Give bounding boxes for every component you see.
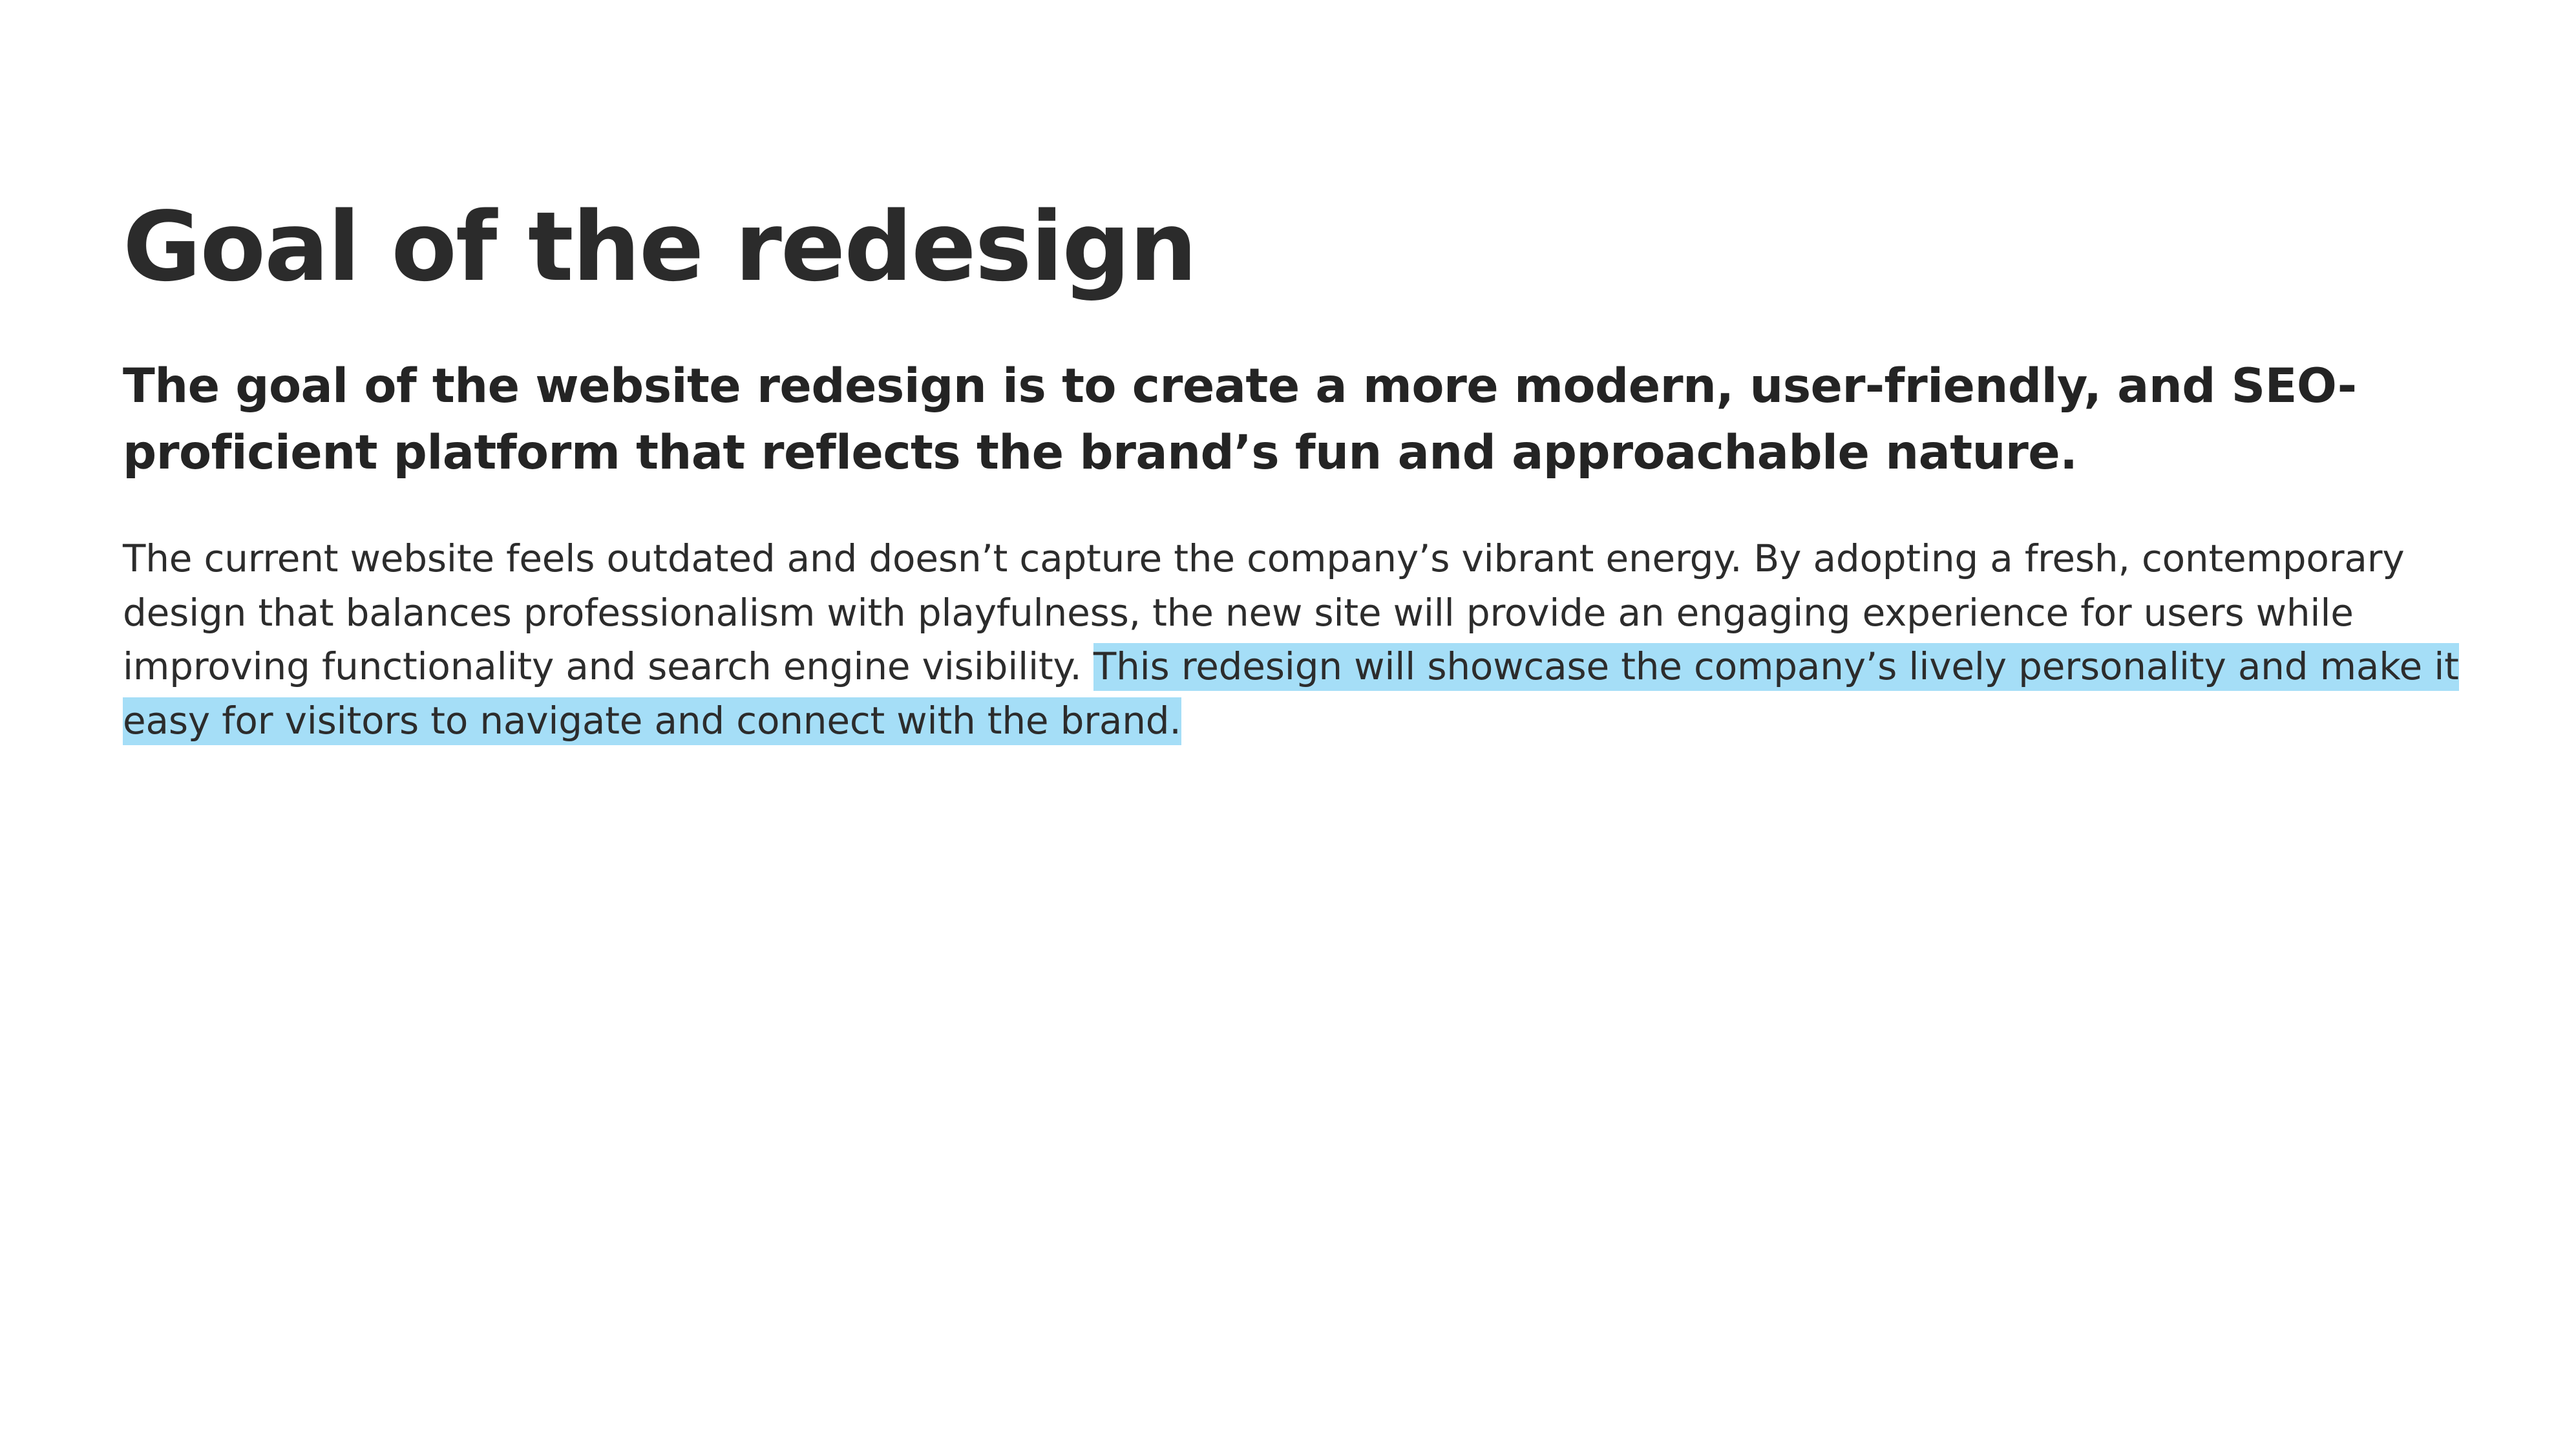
- slide-content-block: Goal of the redesign The goal of the web…: [123, 194, 2462, 748]
- page-title: Goal of the redesign: [123, 194, 2462, 301]
- lede-paragraph: The goal of the website redesign is to c…: [123, 353, 2462, 487]
- slide-canvas: Goal of the redesign The goal of the web…: [0, 0, 2576, 1449]
- body-paragraph: The current website feels outdated and d…: [123, 532, 2462, 748]
